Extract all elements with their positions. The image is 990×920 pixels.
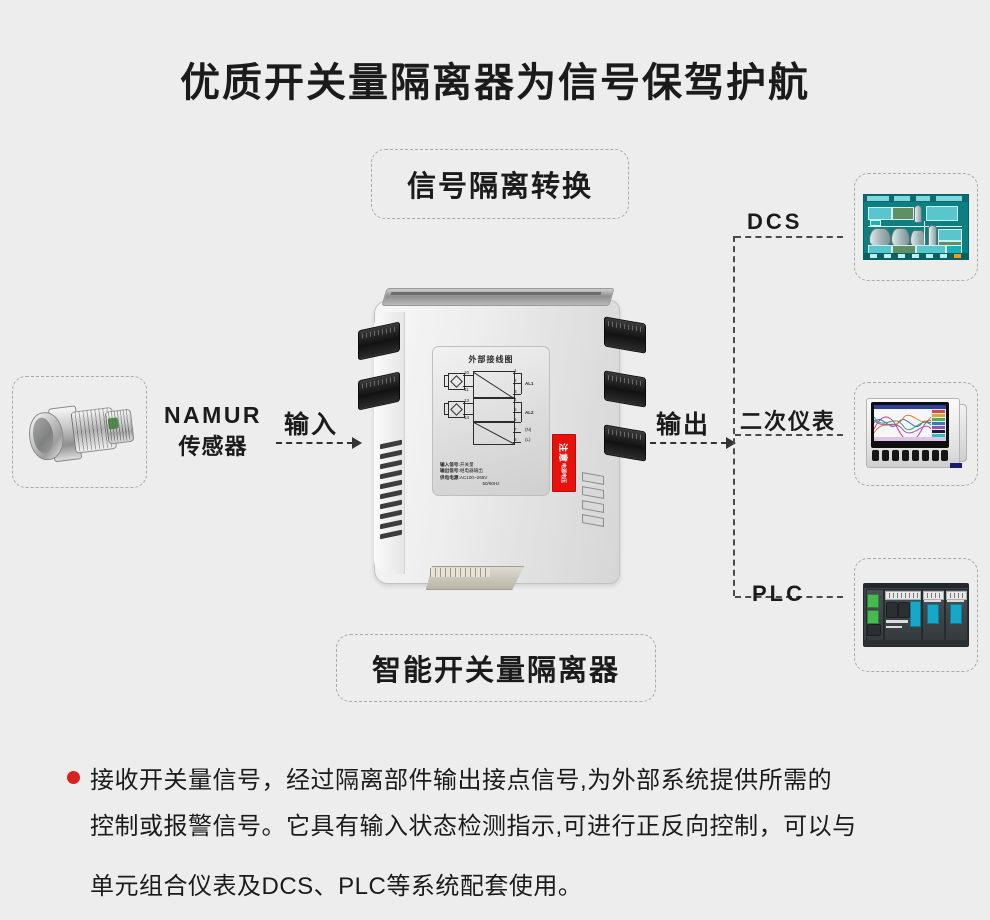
signal-isolation-box: 信号隔离转换 xyxy=(371,149,629,219)
vent-slots-left xyxy=(380,442,406,546)
branch-line-dcs xyxy=(735,236,843,238)
secondary-instrument-label: 二次仪表 xyxy=(740,404,836,436)
description-line-1: 接收开关量信号，经过隔离部件输出接点信号,为外部系统提供所需的 xyxy=(90,758,950,804)
spec-key-2: 供电电源: xyxy=(440,475,460,480)
description-line-3: 单元组合仪表及DCS、PLC等系统配套使用。 xyxy=(90,864,950,910)
description-text: 接收开关量信号，经过隔离部件输出接点信号,为外部系统提供所需的 控制或报警信号。… xyxy=(90,758,950,910)
secondary-instrument-image-frame xyxy=(854,382,978,486)
spec-value-2: AC100~265V xyxy=(460,475,487,480)
dcs-image-frame xyxy=(854,173,978,281)
output-bracket-line xyxy=(733,236,737,596)
dcs-scada-screen-icon xyxy=(863,194,969,260)
spec-frequency: 50/60Hz xyxy=(440,481,542,487)
warning-label-text: 注意 电源电压 xyxy=(553,435,575,491)
device-name-box: 智能开关量隔离器 xyxy=(336,634,656,702)
wiring-diagram-plate: 外部接线图 10 11 xyxy=(432,346,550,496)
namur-sensor-label: NAMUR 传感器 xyxy=(158,400,268,462)
device-specs: 输入信号:开关量 输出信号:继电器输出 供电电源:AC100~265V 50/6… xyxy=(440,462,542,487)
warning-subtext: 电源电压 xyxy=(561,463,568,483)
proximity-sensor-icon xyxy=(17,390,143,474)
device-name-label: 智能开关量隔离器 xyxy=(337,635,655,701)
input-label: 输入 xyxy=(284,405,338,441)
spec-key-0: 输入信号: xyxy=(440,462,460,467)
plc-image-frame xyxy=(854,558,978,672)
plc-label: PLC xyxy=(752,581,805,607)
warning-text: 注意 xyxy=(558,443,571,463)
spec-key-1: 输出信号: xyxy=(440,468,460,473)
spec-value-1: 继电器输出 xyxy=(460,468,483,473)
dcs-label: DCS xyxy=(747,209,802,235)
spec-value-0: 开关量 xyxy=(460,462,474,467)
description-bullet xyxy=(67,771,80,784)
output-label: 输出 xyxy=(656,405,710,441)
output-arrow xyxy=(650,437,736,449)
namur-sensor-image-frame xyxy=(12,376,147,488)
paperless-recorder-icon xyxy=(866,398,966,470)
namur-sensor-label-line1: NAMUR xyxy=(164,402,262,428)
wiring-schematic: 10 11 13 14 1 2 3 xyxy=(443,369,539,455)
page-title: 优质开关量隔离器为信号保驾护航 xyxy=(0,50,990,108)
namur-sensor-label-line2: 传感器 xyxy=(178,434,247,459)
vent-slots-right xyxy=(582,474,606,532)
signal-isolation-label: 信号隔离转换 xyxy=(372,150,628,218)
wiring-diagram-title: 外部接线图 xyxy=(433,354,549,365)
signal-isolator-device: 外部接线图 10 11 xyxy=(356,282,648,594)
warning-label: 注意 电源电压 xyxy=(552,434,576,492)
input-arrow xyxy=(276,437,362,449)
description-line-2: 控制或报警信号。它具有输入状态检测指示,可进行正反向控制，可以与 xyxy=(90,804,950,850)
trend-curves xyxy=(874,409,931,437)
plc-rack-icon xyxy=(863,583,969,647)
infographic-canvas: 优质开关量隔离器为信号保驾护航 信号隔离转换 智能开关量隔离器 NAMUR 传感… xyxy=(0,0,990,920)
